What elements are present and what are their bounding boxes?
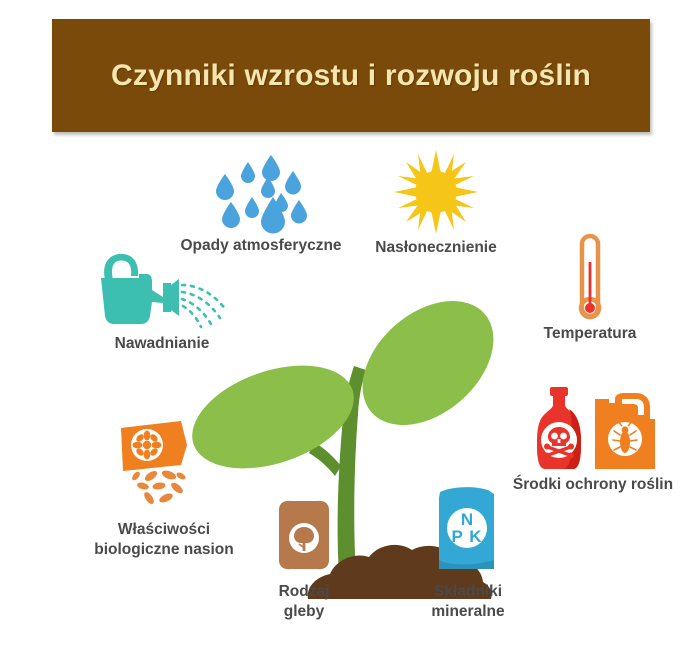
soil-bag-icon [273,498,335,574]
factor-soil-type[interactable]: Rodzaj gleby [244,498,364,623]
header-banner: Czynniki wzrostu i rozwoju roślin [52,19,650,132]
thermometer-icon [570,234,610,324]
infographic-canvas: Czynniki wzrostu i rozwoju roślin [0,0,700,659]
npk-line2: P K [451,527,482,546]
factor-plant-protection[interactable]: Środki ochrony roślin [490,385,696,495]
scattered-seeds-icon [131,469,187,506]
factor-irrigation-label: Nawadnianie [62,334,262,354]
factor-sunlight[interactable]: Nasłonecznienie [356,148,516,258]
watering-can-icon [87,250,237,330]
factor-temperature[interactable]: Temperatura [500,234,680,344]
seed-packet-icon [99,418,229,518]
jerrycan-icon [595,393,655,469]
factor-sunlight-label: Nasłonecznienie [356,238,516,258]
rain-drops-icon [211,148,311,236]
factor-irrigation[interactable]: Nawadnianie [62,250,262,354]
pesticide-containers-icon [523,385,663,475]
factor-soil-type-label: Rodzaj gleby [244,582,364,623]
fertilizer-bag-icon: N P K [432,484,504,576]
factor-temperature-label: Temperatura [500,324,680,344]
factor-seed-biology-label: Właściwości biologiczne nasion [54,520,274,561]
factor-seed-biology[interactable]: Właściwości biologiczne nasion [54,418,274,561]
factor-precipitation[interactable]: Opady atmosferyczne [163,148,359,256]
factor-mineral-nutrients[interactable]: N P K Składniki mineralne [398,484,538,623]
page-title: Czynniki wzrostu i rozwoju roślin [111,59,591,93]
sun-icon [390,148,482,238]
poison-bottle-icon [537,387,581,469]
factor-mineral-nutrients-label: Składniki mineralne [398,582,538,623]
